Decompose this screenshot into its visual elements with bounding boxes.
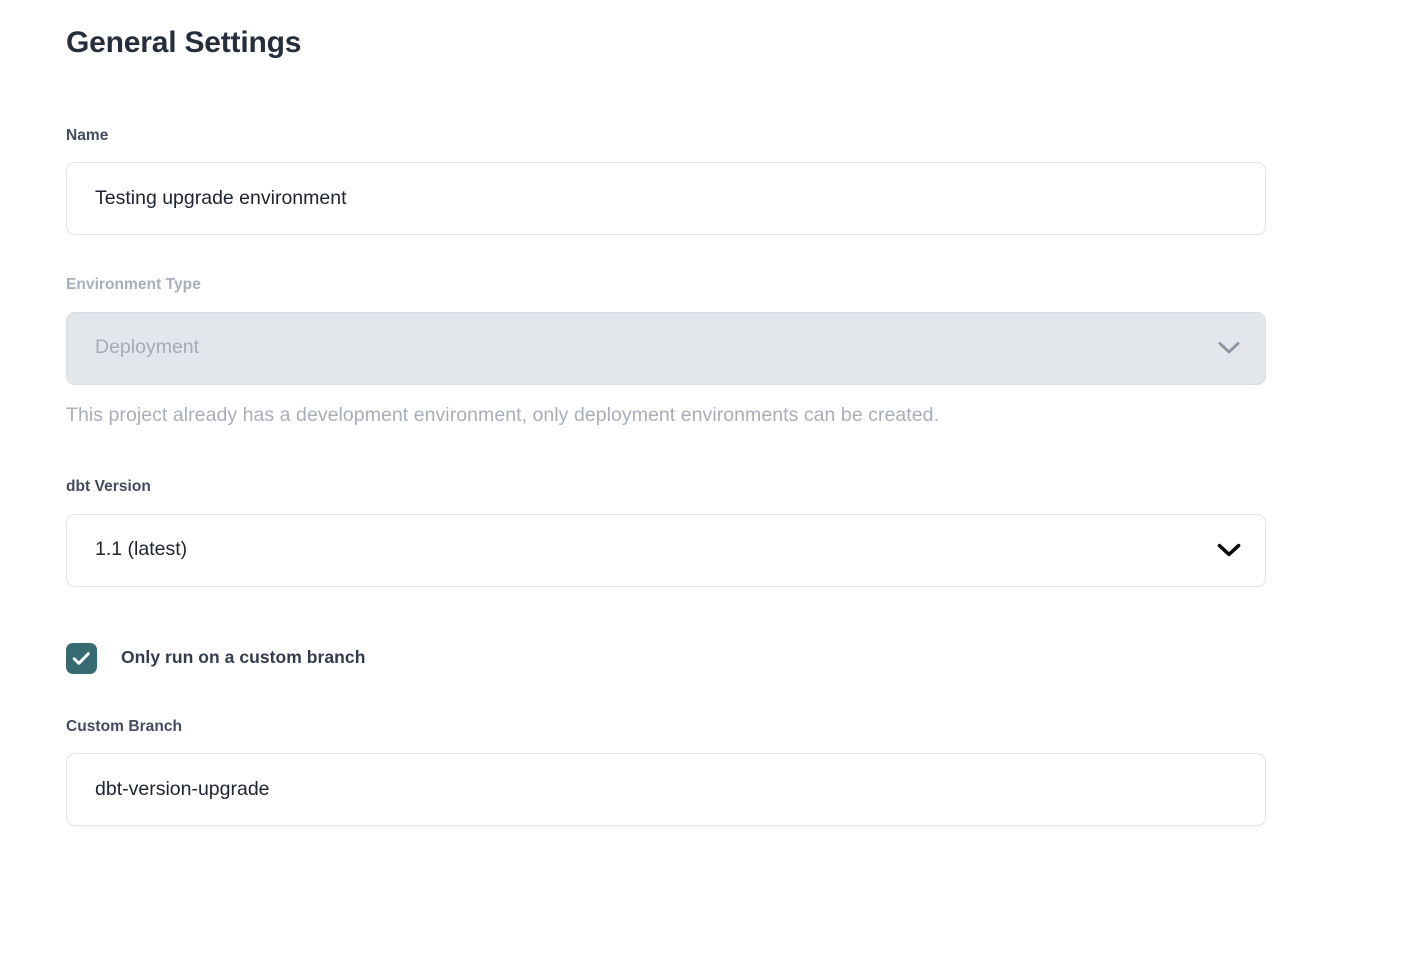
environment-type-select-wrap: Deployment [66, 312, 1266, 385]
check-icon [72, 651, 91, 666]
field-group-name: Name [66, 127, 1266, 236]
general-settings-panel: General Settings Name Environment Type D… [66, 0, 1266, 826]
environment-type-helper-text: This project already has a development e… [66, 403, 1266, 428]
name-input[interactable] [66, 162, 1266, 235]
environment-type-label: Environment Type [66, 276, 1266, 295]
general-settings-page: General Settings Name Environment Type D… [0, 0, 1406, 958]
custom-branch-input[interactable] [66, 753, 1266, 826]
name-label: Name [66, 127, 1266, 146]
custom-branch-checkbox-label[interactable]: Only run on a custom branch [121, 649, 365, 667]
custom-branch-checkbox-row[interactable]: Only run on a custom branch [66, 643, 1266, 674]
dbt-version-select-wrap[interactable]: 1.1 (latest) [66, 514, 1266, 587]
dbt-version-selected-value: 1.1 (latest) [95, 540, 187, 560]
environment-type-selected-value: Deployment [95, 338, 199, 358]
field-group-environment-type: Environment Type Deployment This project… [66, 276, 1266, 428]
field-group-dbt-version: dbt Version 1.1 (latest) [66, 478, 1266, 587]
dbt-version-label: dbt Version [66, 478, 1266, 497]
field-group-custom-branch: Custom Branch [66, 718, 1266, 827]
custom-branch-label: Custom Branch [66, 718, 1266, 737]
custom-branch-checkbox[interactable] [66, 643, 97, 674]
dbt-version-select[interactable]: 1.1 (latest) [66, 514, 1266, 587]
page-title: General Settings [66, 0, 1266, 62]
environment-type-select: Deployment [66, 312, 1266, 385]
